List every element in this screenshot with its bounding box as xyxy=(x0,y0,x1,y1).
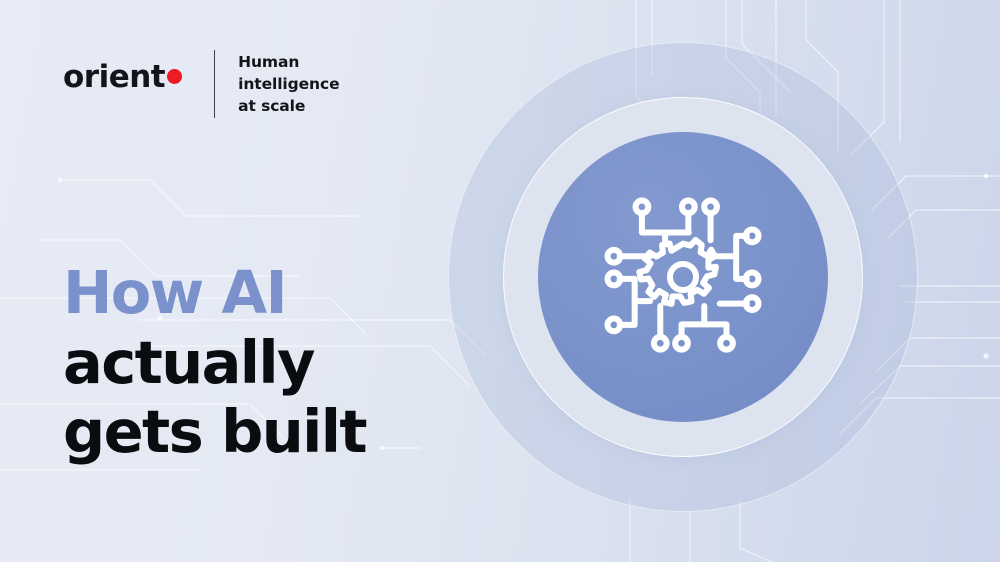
ai-circuit-gear-icon xyxy=(596,190,770,364)
wordmark-wrap: orient xyxy=(63,50,182,93)
tagline-line-2: intelligence xyxy=(238,73,339,95)
brand-logo-block[interactable]: orient Human intelligence at scale xyxy=(63,50,339,118)
tagline-line-3: at scale xyxy=(238,95,339,117)
headline-line-1: How AI xyxy=(63,258,366,328)
slide-canvas: orient Human intelligence at scale How A… xyxy=(0,0,1000,562)
tagline-line-1: Human xyxy=(238,51,339,73)
headline-line-3: gets built xyxy=(63,397,366,467)
gear-outline xyxy=(639,240,716,304)
logo-red-dot-icon xyxy=(167,69,182,84)
page-title: How AI actually gets built xyxy=(63,258,366,467)
brand-tagline: Human intelligence at scale xyxy=(238,50,339,117)
gear-center-hole xyxy=(670,264,696,290)
orient-wordmark: orient xyxy=(63,62,165,93)
headline-line-2: actually xyxy=(63,328,366,398)
logo-divider xyxy=(214,50,215,118)
